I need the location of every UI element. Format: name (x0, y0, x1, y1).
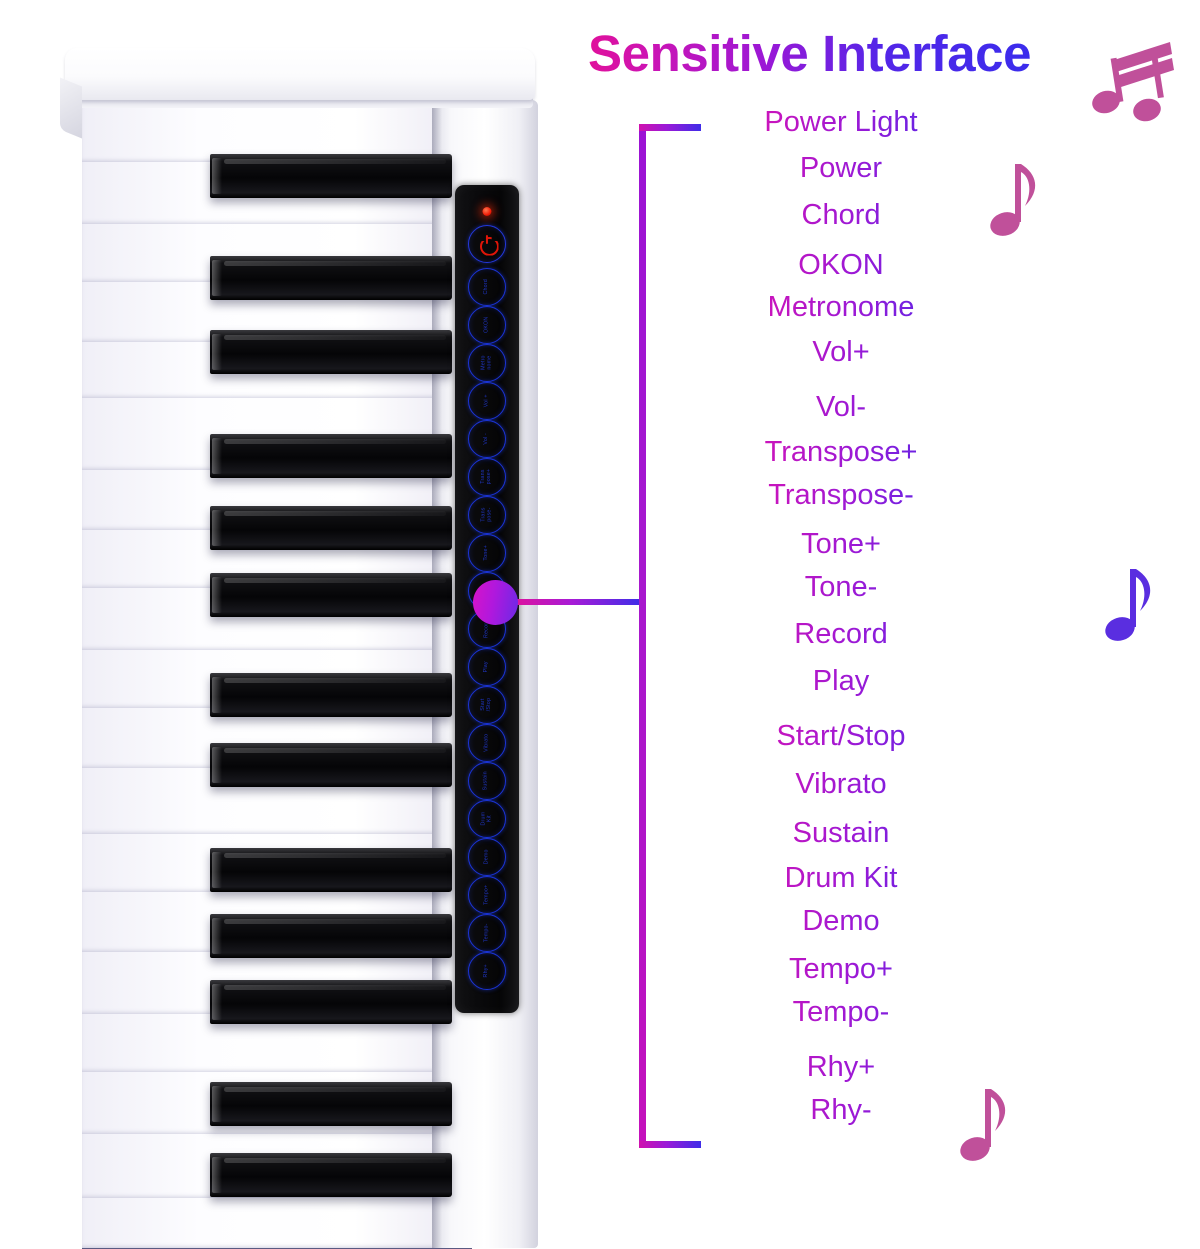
power-light-led (483, 207, 492, 216)
black-key[interactable] (210, 256, 452, 300)
drum-kit-button-label: Drum Kit (481, 812, 492, 826)
feature-label: Start/Stop (700, 722, 982, 751)
feature-label: Vibrato (700, 770, 982, 799)
feature-label: Tone- (700, 573, 982, 602)
lid-side-edge (60, 78, 82, 139)
black-key[interactable] (210, 673, 452, 717)
feature-label: Tone+ (700, 530, 982, 559)
feature-label: Vol+ (700, 338, 982, 367)
tempo-down-button[interactable]: Tempo- (468, 914, 506, 952)
okon-button-label: OKON (484, 317, 490, 333)
feature-label: Chord (700, 201, 982, 230)
product-feature-graphic: Chord OKON Metro nome Vol + Vol - Trans … (0, 0, 1200, 1200)
vol-up-button[interactable]: Vol + (468, 382, 506, 420)
sustain-button-label: Sustain (484, 771, 490, 790)
feature-label: Transpose+ (700, 438, 982, 467)
start-stop-button[interactable]: Start /Stop (468, 686, 506, 724)
feature-label: Tempo+ (700, 955, 982, 984)
vibrato-button[interactable]: Vibrato (468, 724, 506, 762)
feature-label: Power (700, 154, 982, 183)
black-key[interactable] (210, 848, 452, 892)
eighth-note-icon (985, 160, 1047, 242)
feature-label: Sustain (700, 819, 982, 848)
callout-leader-line (512, 599, 644, 605)
tempo-up-button[interactable]: Tempo+ (468, 876, 506, 914)
feature-label: Record (700, 620, 982, 649)
vol-down-button-label: Vol - (484, 433, 490, 445)
feature-label: Rhy- (700, 1096, 982, 1125)
black-key[interactable] (210, 980, 452, 1024)
beamed-eighth-notes-icon (1092, 30, 1196, 122)
black-key[interactable] (210, 743, 452, 787)
callout-bracket-vertical (639, 124, 646, 1148)
callout-bracket-bottom-arm (639, 1141, 701, 1148)
control-panel-marker (473, 580, 518, 625)
vol-up-button-label: Vol + (484, 395, 490, 408)
white-key[interactable] (82, 1198, 472, 1249)
sustain-button[interactable]: Sustain (468, 762, 506, 800)
black-key[interactable] (210, 330, 452, 374)
feature-label: Vol- (700, 393, 982, 422)
tone-up-button[interactable]: Tone+ (468, 534, 506, 572)
feature-label: Metronome (700, 293, 982, 322)
keyboard-lid (65, 48, 535, 100)
drum-kit-button[interactable]: Drum Kit (468, 800, 506, 838)
vibrato-button-label: Vibrato (484, 734, 490, 752)
vol-down-button[interactable]: Vol - (468, 420, 506, 458)
feature-label: Play (700, 667, 982, 696)
black-key[interactable] (210, 506, 452, 550)
callout-bracket-top-arm (639, 124, 701, 131)
transpose-up-button[interactable]: Trans pose+ (468, 458, 506, 496)
start-stop-button-label: Start /Stop (481, 698, 492, 711)
play-button-label: Play (484, 661, 490, 672)
feature-label-list: Power Light Power Chord OKON Metronome V… (700, 108, 982, 1125)
transpose-down-button[interactable]: Trans pose- (468, 496, 506, 534)
metronome-button[interactable]: Metro nome (468, 344, 506, 382)
feature-label: Tempo- (700, 998, 982, 1027)
eighth-note-icon (955, 1085, 1017, 1167)
power-icon (479, 236, 496, 253)
metronome-button-label: Metro nome (481, 356, 492, 371)
feature-label: Drum Kit (700, 864, 982, 893)
feature-label: Transpose- (700, 481, 982, 510)
tempo-up-button-label: Tempo+ (484, 885, 490, 905)
demo-button[interactable]: Demo (468, 838, 506, 876)
black-key[interactable] (210, 1082, 452, 1126)
demo-button-label: Demo (484, 850, 490, 865)
tempo-down-button-label: Tempo- (484, 924, 490, 943)
black-key[interactable] (210, 434, 452, 478)
feature-label: Rhy+ (700, 1053, 982, 1082)
feature-label: Power Light (700, 108, 982, 137)
black-key[interactable] (210, 154, 452, 198)
transpose-up-button-label: Trans pose+ (481, 469, 492, 485)
feature-label: Demo (700, 907, 982, 936)
transpose-down-button-label: Trans pose- (481, 508, 492, 522)
tone-up-button-label: Tone+ (484, 545, 490, 561)
chord-button[interactable]: Chord (468, 268, 506, 306)
chord-button-label: Chord (484, 279, 490, 294)
power-button[interactable] (468, 225, 506, 263)
black-key[interactable] (210, 573, 452, 617)
okon-button[interactable]: OKON (468, 306, 506, 344)
eighth-note-icon (1100, 565, 1162, 647)
black-key[interactable] (210, 1153, 452, 1197)
play-button[interactable]: Play (468, 648, 506, 686)
page-title: Sensitive Interface (588, 24, 1031, 83)
black-key[interactable] (210, 914, 452, 958)
feature-label: OKON (700, 251, 982, 280)
